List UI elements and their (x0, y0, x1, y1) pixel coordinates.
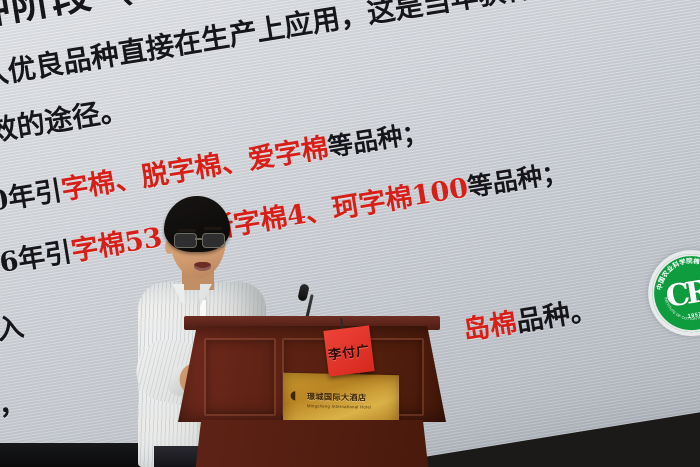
slide-bullet-4-varieties: 岛棉 (461, 308, 519, 347)
speaker-mouth (194, 262, 211, 271)
eyeglass-lens-right (202, 233, 225, 248)
slide-bullet-2-prefix: 33-1936年引 (0, 237, 74, 296)
slide-bullet-3: 50年引入 (0, 305, 26, 362)
cri-logo: 中国农业科学院棉花研究所 INSTITUTE OF COTTON RESEARC… (642, 244, 700, 343)
hotel-plate-en: Mingcheng International Hotel (307, 403, 371, 409)
slide-bullet-4-prefix: 疆棉区， (0, 387, 28, 435)
shirt-collar-right (200, 284, 212, 306)
slide-paragraph-line-2: 的迅速有效的途径。 (0, 88, 131, 168)
slide-bullet-4: 疆棉区， (0, 380, 28, 436)
podium-base (194, 420, 430, 467)
slide-bullet-4-suffix: 品种。 (514, 295, 599, 339)
cri-logo-ring-text: 中国农业科学院棉花研究所 INSTITUTE OF COTTON RESEARC… (646, 248, 700, 337)
speaker-eyebrow-left (178, 229, 196, 232)
slide-bullet-1-prefix: 19-1920年引 (0, 176, 64, 235)
cri-logo-disc: 中国农业科学院棉花研究所 INSTITUTE OF COTTON RESEARC… (646, 248, 700, 337)
shirt-collar-left (172, 284, 184, 306)
eyeglass-lens-left (174, 233, 197, 248)
svg-text:中国农业科学院棉花研究所: 中国农业科学院棉花研究所 (650, 251, 700, 293)
slide-bullet-3-prefix: 50年引入 (0, 311, 26, 361)
podium: ◖ 璟城国际大酒店 Mingcheng International Hotel … (178, 316, 446, 467)
slide-title-paren-open: （ (88, 0, 136, 17)
slide-bullet-2-suffix: 等品种； (466, 158, 569, 203)
eyeglasses-icon (174, 233, 226, 246)
hotel-plate-cn: 璟城国际大酒店 (307, 391, 367, 403)
slide-bullet-4-tail: 岛棉品种。 (460, 288, 599, 348)
speaker-name-text: 李付广 (327, 339, 371, 363)
cri-ring-text-cn: 中国农业科学院棉花研究所 (650, 251, 700, 293)
eyeglass-bridge (195, 238, 202, 240)
slide-bullet-1-suffix: 等品种； (326, 117, 429, 162)
speaker-name-card: 李付广 (323, 325, 374, 376)
hotel-logo-icon: ◖ (290, 388, 296, 402)
podium-inset-panel (204, 338, 276, 416)
photo-canvas: 化育种阶段（1.0时代） ——国外引种 从外国引入优良品种直接在生产上应用，这是… (0, 0, 700, 467)
speaker-eyebrow-right (204, 227, 222, 230)
